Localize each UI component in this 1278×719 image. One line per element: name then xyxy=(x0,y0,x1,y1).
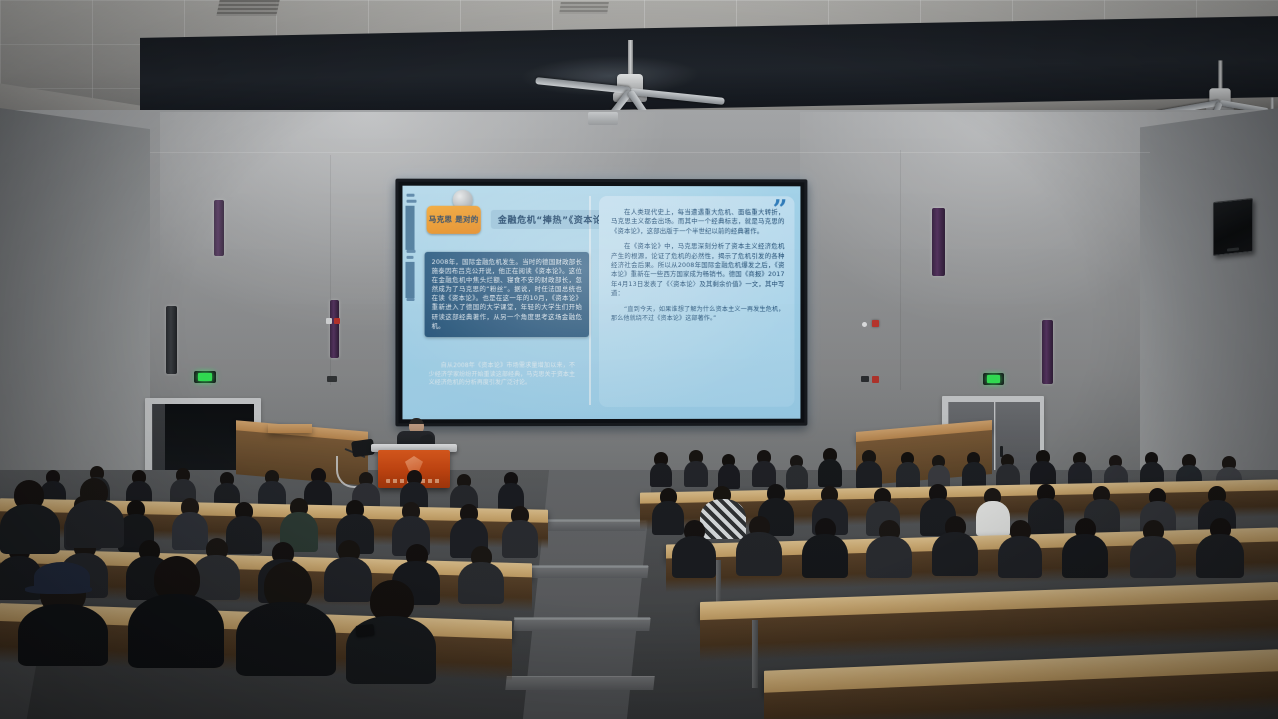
exit-sign-lamp xyxy=(198,373,212,380)
baseball-cap xyxy=(34,562,90,592)
student xyxy=(736,516,782,574)
slide-right-paragraph-3: “直到今天，如果谁想了解为什么资本主义一再发生危机，那么他就绕不过《资本论》这部… xyxy=(611,305,785,323)
student-torso xyxy=(236,602,336,676)
step-nosing xyxy=(514,617,650,620)
student-torso xyxy=(684,461,708,487)
slide-faded-paragraph: 自从2008年《资本论》市场需求量增加以来，不少经济学家纷纷开始重读这部经典，马… xyxy=(429,362,575,388)
slide-sidebar-block xyxy=(405,262,414,298)
student xyxy=(802,518,848,576)
wall-speaker xyxy=(1213,198,1253,256)
student xyxy=(752,450,776,486)
student xyxy=(458,546,504,602)
slide-right-paragraph-2: 在《资本论》中，马克思深刻分析了资本主义经济危机产生的根源，论证了危机的必然性，… xyxy=(611,242,785,298)
slide-badge-text: 马克思 是对的 xyxy=(429,216,479,224)
student xyxy=(998,520,1042,576)
ceiling-fan-center xyxy=(600,40,660,110)
acoustic-panel-left xyxy=(166,306,177,374)
switch-plate[interactable] xyxy=(861,376,869,382)
student-torso xyxy=(18,604,108,666)
student-torso xyxy=(650,463,672,487)
projector-mount xyxy=(588,112,618,125)
student xyxy=(1062,518,1108,576)
podium-logo-icon xyxy=(405,456,423,471)
mobile-phone[interactable] xyxy=(355,624,374,637)
presentation-slide: 马克思 是对的 金融危机“捧热”《资本论》 2008年，国际金融危机发生。当时的… xyxy=(402,186,800,420)
student xyxy=(1030,450,1056,488)
acoustic-panel-mid-left xyxy=(330,300,339,358)
fire-alarm-box-lower[interactable] xyxy=(872,376,879,383)
slide-sidebar xyxy=(405,194,419,379)
student-torso xyxy=(856,461,882,489)
wall-seam xyxy=(900,150,901,390)
exit-sign-right xyxy=(983,373,1004,385)
slide-title: 金融危机“捧热”《资本论》 xyxy=(498,213,612,226)
acoustic-panel-mid-right xyxy=(932,208,945,276)
slide-sidebar-block xyxy=(405,206,414,250)
student-torso xyxy=(802,534,848,578)
student xyxy=(818,448,842,486)
wall-seam xyxy=(150,152,1150,153)
student-torso xyxy=(998,536,1042,578)
student-torso xyxy=(1130,536,1176,578)
wall-sensor-right-icon xyxy=(326,318,332,324)
student-torso xyxy=(1196,534,1244,578)
step-nosing xyxy=(522,565,648,568)
ceiling-vent-secondary-icon xyxy=(559,2,609,14)
acoustic-panel-far-left xyxy=(214,200,224,256)
student xyxy=(66,478,124,544)
student-torso xyxy=(66,500,124,548)
acoustic-panel-right xyxy=(1042,320,1053,384)
student xyxy=(896,452,920,488)
student xyxy=(866,520,912,576)
ceiling-fan-right xyxy=(1200,60,1241,109)
student xyxy=(672,520,716,576)
student-torso xyxy=(932,532,978,576)
student xyxy=(128,556,224,666)
student xyxy=(650,452,672,486)
quote-mark-icon: ” xyxy=(773,200,788,220)
student xyxy=(962,452,986,488)
left-wall xyxy=(0,108,150,501)
stage-podium-ledge xyxy=(268,424,312,433)
slide-dark-paragraph: 2008年，国际金融危机发生。当时的德国财政部长施泰因布吕克公开说，他正在阅读《… xyxy=(432,258,582,331)
student xyxy=(684,450,708,486)
desk-leg xyxy=(752,620,758,688)
student xyxy=(996,454,1020,489)
student xyxy=(502,506,538,556)
student-torso xyxy=(128,594,224,668)
student-torso xyxy=(896,462,920,489)
slide-faded-text: 自从2008年《资本论》市场需求量增加以来，不少经济学家纷纷开始重读这部经典，马… xyxy=(429,362,575,388)
fan-rod xyxy=(628,40,633,78)
slide-badge: 马克思 是对的 xyxy=(427,206,481,234)
student xyxy=(932,516,978,574)
right-wall xyxy=(1140,108,1278,499)
projection-screen: 马克思 是对的 金融危机“捧热”《资本论》 2008年，国际金融危机发生。当时的… xyxy=(395,179,807,427)
switch-plate-left[interactable] xyxy=(327,376,337,382)
slide-quote-panel: ” 在人类现代史上，每当遭遇重大危机、面临重大转折，马克思主义都会出场。而其中一… xyxy=(599,196,794,407)
student-capped xyxy=(18,560,108,660)
student xyxy=(856,450,882,488)
exit-sign-left xyxy=(194,371,216,383)
student-torso xyxy=(866,536,912,578)
student xyxy=(0,480,60,550)
wall-sensor-icon xyxy=(862,322,867,327)
student xyxy=(1130,520,1176,576)
fire-alarm-box[interactable] xyxy=(872,320,879,327)
fan-rod xyxy=(1218,60,1222,91)
student-torso xyxy=(736,532,782,576)
fire-alarm-box-left[interactable] xyxy=(334,318,340,324)
student-torso xyxy=(0,504,60,554)
slide-dark-textbox: 2008年，国际金融危机发生。当时的德国财政部长施泰因布吕克公开说，他正在阅读《… xyxy=(425,252,589,337)
student-torso xyxy=(818,459,842,487)
student-torso xyxy=(502,520,538,558)
lecture-hall-scene: 马克思 是对的 金融危机“捧热”《资本论》 2008年，国际金融危机发生。当时的… xyxy=(0,0,1278,719)
slide-right-paragraph-1: 在人类现代史上，每当遭遇重大危机、面临重大转折，马克思主义都会出场。而其中一个经… xyxy=(611,208,785,236)
aisle-step xyxy=(505,676,654,690)
student xyxy=(718,454,740,488)
student xyxy=(236,562,336,672)
ceiling-vent-icon xyxy=(216,0,279,16)
student-torso xyxy=(1062,534,1108,578)
student-torso xyxy=(672,536,716,578)
exit-sign-lamp xyxy=(987,375,1000,382)
student-torso xyxy=(458,562,504,604)
student xyxy=(1196,518,1244,576)
